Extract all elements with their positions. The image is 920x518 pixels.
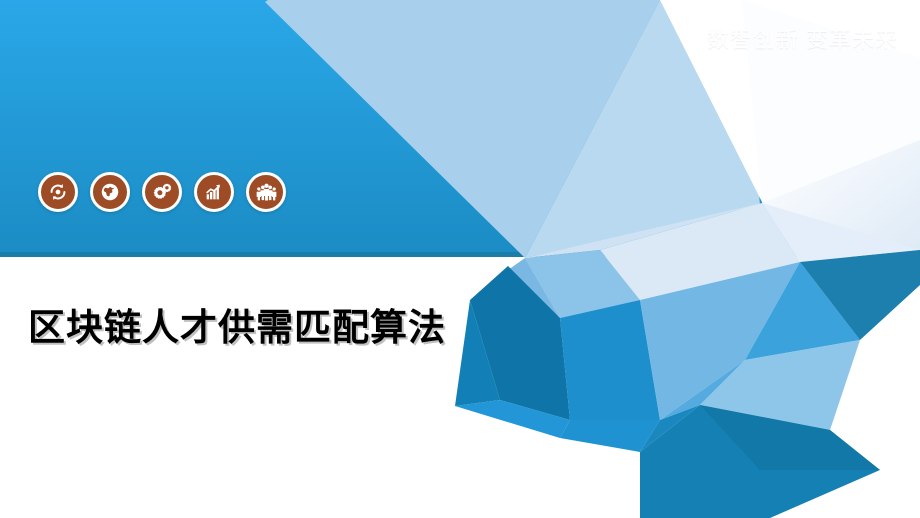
- gears-icon: [142, 172, 182, 212]
- people-group-icon: [246, 172, 286, 212]
- page-title: 区块链人才供需匹配算法: [28, 297, 446, 351]
- recycle-arrow-icon: [38, 172, 78, 212]
- feature-icon-row: [38, 172, 286, 212]
- presentation-cover-slide: 数智创新 变革未来: [0, 0, 920, 518]
- slide-tagline: 数智创新 变革未来: [707, 27, 898, 53]
- bar-chart-growth-icon: [194, 172, 234, 212]
- background-polygon-artwork: [0, 0, 920, 518]
- globe-icon: [90, 172, 130, 212]
